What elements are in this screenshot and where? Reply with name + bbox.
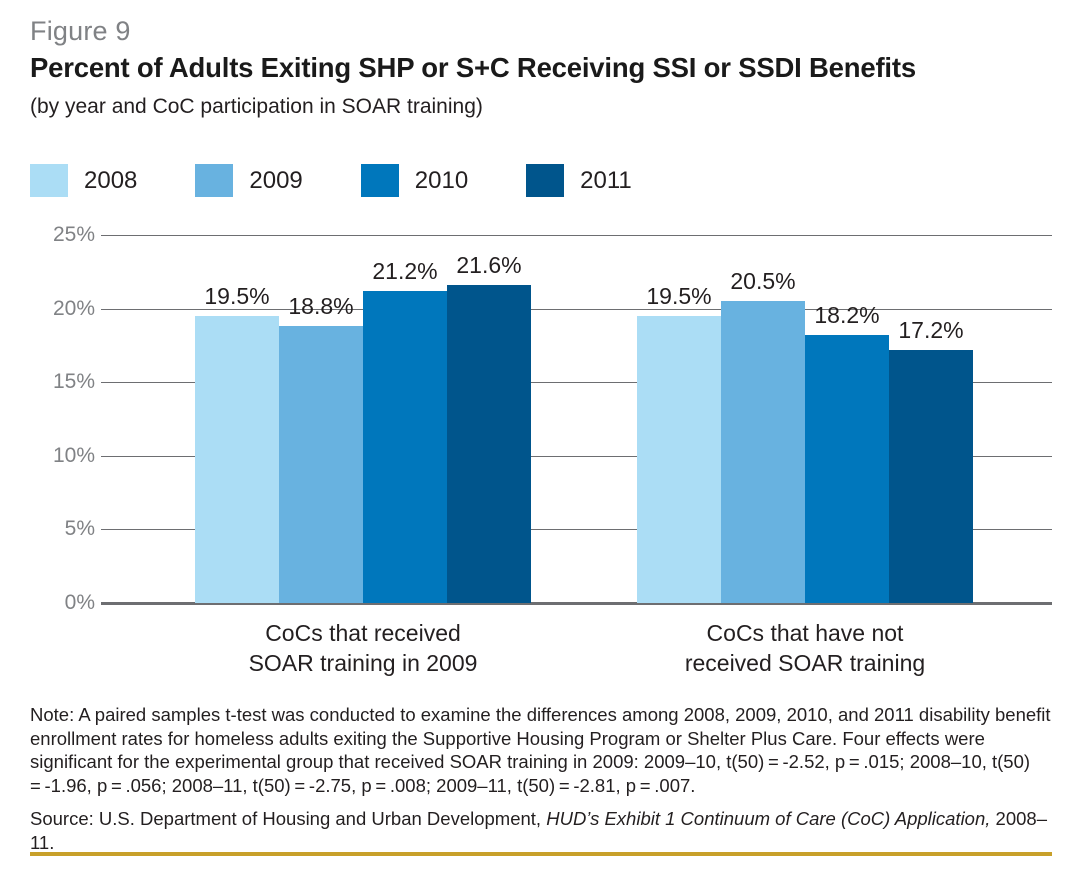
gridline [101,235,1052,236]
bar-2011-group-1 [447,285,531,603]
legend-swatch-icon-2008 [30,164,68,197]
y-axis-tick-label: 10% [11,444,95,468]
x-axis-category-label: CoCs that have notreceived SOAR training [685,618,925,678]
legend-label: 2009 [249,167,302,195]
figure-page: Figure 9 Percent of Adults Exiting SHP o… [0,0,1078,869]
y-axis-tick-label: 0% [11,591,95,615]
category-label-line: SOAR training in 2009 [249,648,478,678]
chart-legend: 2008200920102011 [30,164,690,197]
bar-2009-group-2 [721,301,805,603]
figure-subtitle: (by year and CoC participation in SOAR t… [30,95,483,119]
source-prefix: Source: U.S. Department of Housing and U… [30,808,546,829]
legend-swatch-icon-2009 [195,164,233,197]
legend-item-2009: 2009 [195,164,302,197]
legend-item-2010: 2010 [361,164,468,197]
bar-value-label: 19.5% [204,283,269,310]
bar-2010-group-2 [805,335,889,603]
y-axis-tick-label: 20% [11,297,95,321]
bar-value-label: 19.5% [646,283,711,310]
bar-value-label: 18.2% [814,302,879,329]
legend-swatch-icon-2011 [526,164,564,197]
bar-2008-group-2 [637,316,721,603]
category-label-line: received SOAR training [685,648,925,678]
legend-label: 2008 [84,167,137,195]
y-axis-tick-label: 25% [11,223,95,247]
bar-value-label: 18.8% [288,293,353,320]
x-axis-category-label: CoCs that receivedSOAR training in 2009 [249,618,478,678]
bar-value-label: 20.5% [730,268,795,295]
figure-notes: Note: A paired samples t-test was conduc… [30,703,1054,854]
bar-chart: 0%5%10%15%20%25% 19.5%18.8%21.2%21.6%19.… [0,224,1078,616]
category-label-line: CoCs that have not [685,618,925,648]
legend-label: 2011 [580,167,632,195]
bar-2011-group-2 [889,350,973,603]
figure-number: Figure 9 [30,16,131,47]
legend-item-2011: 2011 [526,164,632,197]
y-axis-tick-label: 5% [11,517,95,541]
y-axis: 0%5%10%15%20%25% [0,235,95,603]
note-text: Note: A paired samples t-test was conduc… [30,703,1054,797]
bar-2010-group-1 [363,291,447,603]
legend-label: 2010 [415,167,468,195]
bar-value-label: 21.2% [372,258,437,285]
note-paragraph: Note: A paired samples t-test was conduc… [30,703,1054,797]
category-label-line: CoCs that received [249,618,478,648]
source-paragraph: Source: U.S. Department of Housing and U… [30,807,1054,854]
source-title-italic: HUD’s Exhibit 1 Continuum of Care (CoC) … [546,808,990,829]
figure-title: Percent of Adults Exiting SHP or S+C Rec… [30,52,916,84]
plot-area: 19.5%18.8%21.2%21.6%19.5%20.5%18.2%17.2% [101,235,1052,603]
legend-item-2008: 2008 [30,164,137,197]
bar-value-label: 21.6% [456,252,521,279]
bar-2008-group-1 [195,316,279,603]
y-axis-tick-label: 15% [11,370,95,394]
bottom-rule-divider [30,852,1052,856]
bar-2009-group-1 [279,326,363,603]
legend-swatch-icon-2010 [361,164,399,197]
bar-value-label: 17.2% [898,317,963,344]
